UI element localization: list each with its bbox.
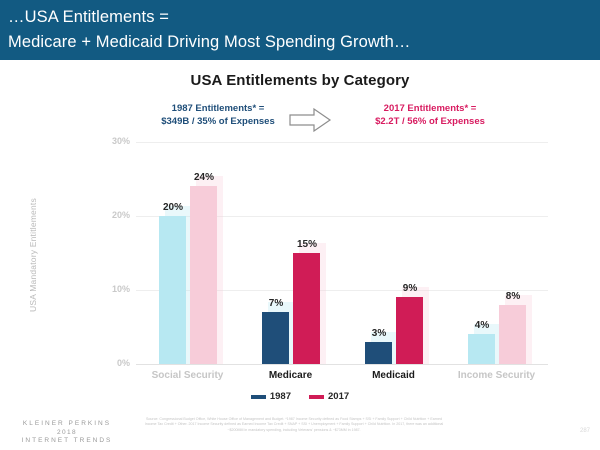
x-axis-label-income-security: Income Security	[445, 370, 548, 381]
slide-title-banner: …USA Entitlements = Medicare + Medicaid …	[0, 0, 600, 60]
legend-swatch-2017	[309, 395, 324, 399]
legend-item-2017[interactable]: 2017	[309, 391, 349, 402]
bar-1987-medicare[interactable]	[262, 312, 289, 364]
slide-title-line-1: …USA Entitlements =	[8, 5, 600, 30]
callout-row: 1987 Entitlements* = $349B / 35% of Expe…	[0, 102, 600, 138]
chart-card: USA Entitlements by Category 1987 Entitl…	[0, 62, 600, 412]
axis-baseline	[136, 364, 548, 365]
kleiner-perkins-logo: KLEINER PERKINS 2018 INTERNET TRENDS	[8, 420, 126, 446]
chart-bars-area: 20%24%Social Security7%15%Medicare3%9%Me…	[136, 142, 548, 364]
y-axis-title: USA Mandatory Entitlements	[28, 160, 38, 350]
y-tick-label: 10%	[98, 284, 130, 294]
bar-2017-medicare[interactable]	[293, 253, 320, 364]
chart-plot-area: USA Mandatory Entitlements 0%10%20%30% 2…	[0, 142, 600, 412]
bar-group: 20%24%	[136, 142, 239, 364]
bar-group: 3%9%	[342, 142, 445, 364]
bar-1987-medicaid[interactable]	[365, 342, 392, 364]
bar-value-label: 24%	[181, 172, 227, 183]
bar-1987-income-security[interactable]	[468, 334, 495, 364]
bar-value-label: 9%	[387, 283, 433, 294]
logo-line-2: 2018	[8, 429, 126, 438]
callout-2017-line-1: 2017 Entitlements* =	[330, 102, 530, 115]
right-block-arrow-icon	[288, 107, 332, 133]
logo-line-1: KLEINER PERKINS	[8, 420, 126, 429]
x-axis-label-medicare: Medicare	[239, 370, 342, 381]
bar-value-label: 8%	[490, 291, 536, 302]
bar-group: 7%15%	[239, 142, 342, 364]
slide-footer: KLEINER PERKINS 2018 INTERNET TRENDS Sou…	[0, 412, 600, 450]
slide-title-line-2: Medicare + Medicaid Driving Most Spendin…	[8, 30, 600, 55]
page-number: 287	[580, 428, 590, 434]
bar-1987-social-security[interactable]	[159, 216, 186, 364]
legend-item-1987[interactable]: 1987	[251, 391, 291, 402]
x-axis-label-social-security: Social Security	[136, 370, 239, 381]
bar-2017-social-security[interactable]	[190, 186, 217, 364]
y-tick-label: 20%	[98, 210, 130, 220]
bar-value-label: 15%	[284, 239, 330, 250]
y-tick-label: 30%	[98, 136, 130, 146]
y-tick-label: 0%	[98, 358, 130, 368]
bar-group: 4%8%	[445, 142, 548, 364]
x-axis-label-medicaid: Medicaid	[342, 370, 445, 381]
legend-label-1987: 1987	[270, 391, 291, 402]
chart-legend: 19872017	[0, 391, 600, 402]
callout-2017-line-2: $2.2T / 56% of Expenses	[330, 115, 530, 128]
source-note: Source: Congressional Budget Office, Whi…	[144, 417, 444, 433]
legend-swatch-1987	[251, 395, 266, 399]
chart-title: USA Entitlements by Category	[0, 72, 600, 89]
legend-label-2017: 2017	[328, 391, 349, 402]
callout-2017: 2017 Entitlements* = $2.2T / 56% of Expe…	[330, 102, 530, 128]
bar-2017-medicaid[interactable]	[396, 297, 423, 364]
bar-2017-income-security[interactable]	[499, 305, 526, 364]
logo-line-3: INTERNET TRENDS	[8, 437, 126, 446]
